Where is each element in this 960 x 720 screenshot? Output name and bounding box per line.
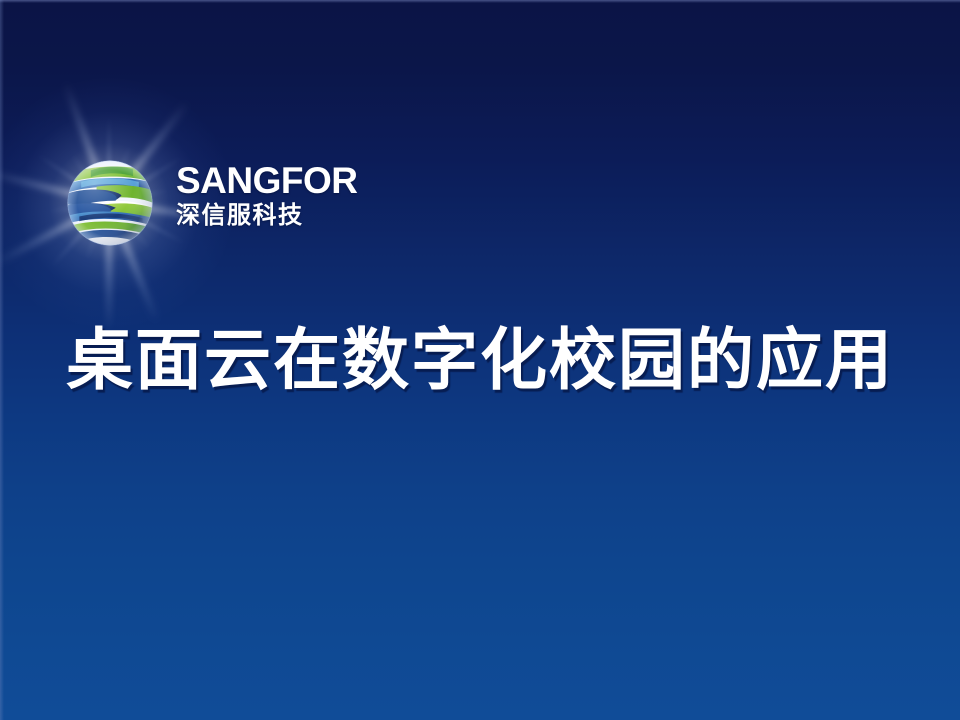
brand-name-english: SANGFOR xyxy=(176,162,376,200)
slide-title: 桌面云在数字化校园的应用 xyxy=(0,318,960,402)
slide-top-edge-highlight xyxy=(0,0,960,3)
presentation-title-slide: SANGFOR 深信服科技 桌面云在数字化校园的应用 xyxy=(0,0,960,720)
brand-name-chinese: 深信服科技 xyxy=(176,202,376,229)
brand-wordmark: SANGFOR 深信服科技 xyxy=(176,162,376,229)
globe-icon xyxy=(62,155,158,251)
sangfor-logo: SANGFOR 深信服科技 xyxy=(44,140,374,265)
